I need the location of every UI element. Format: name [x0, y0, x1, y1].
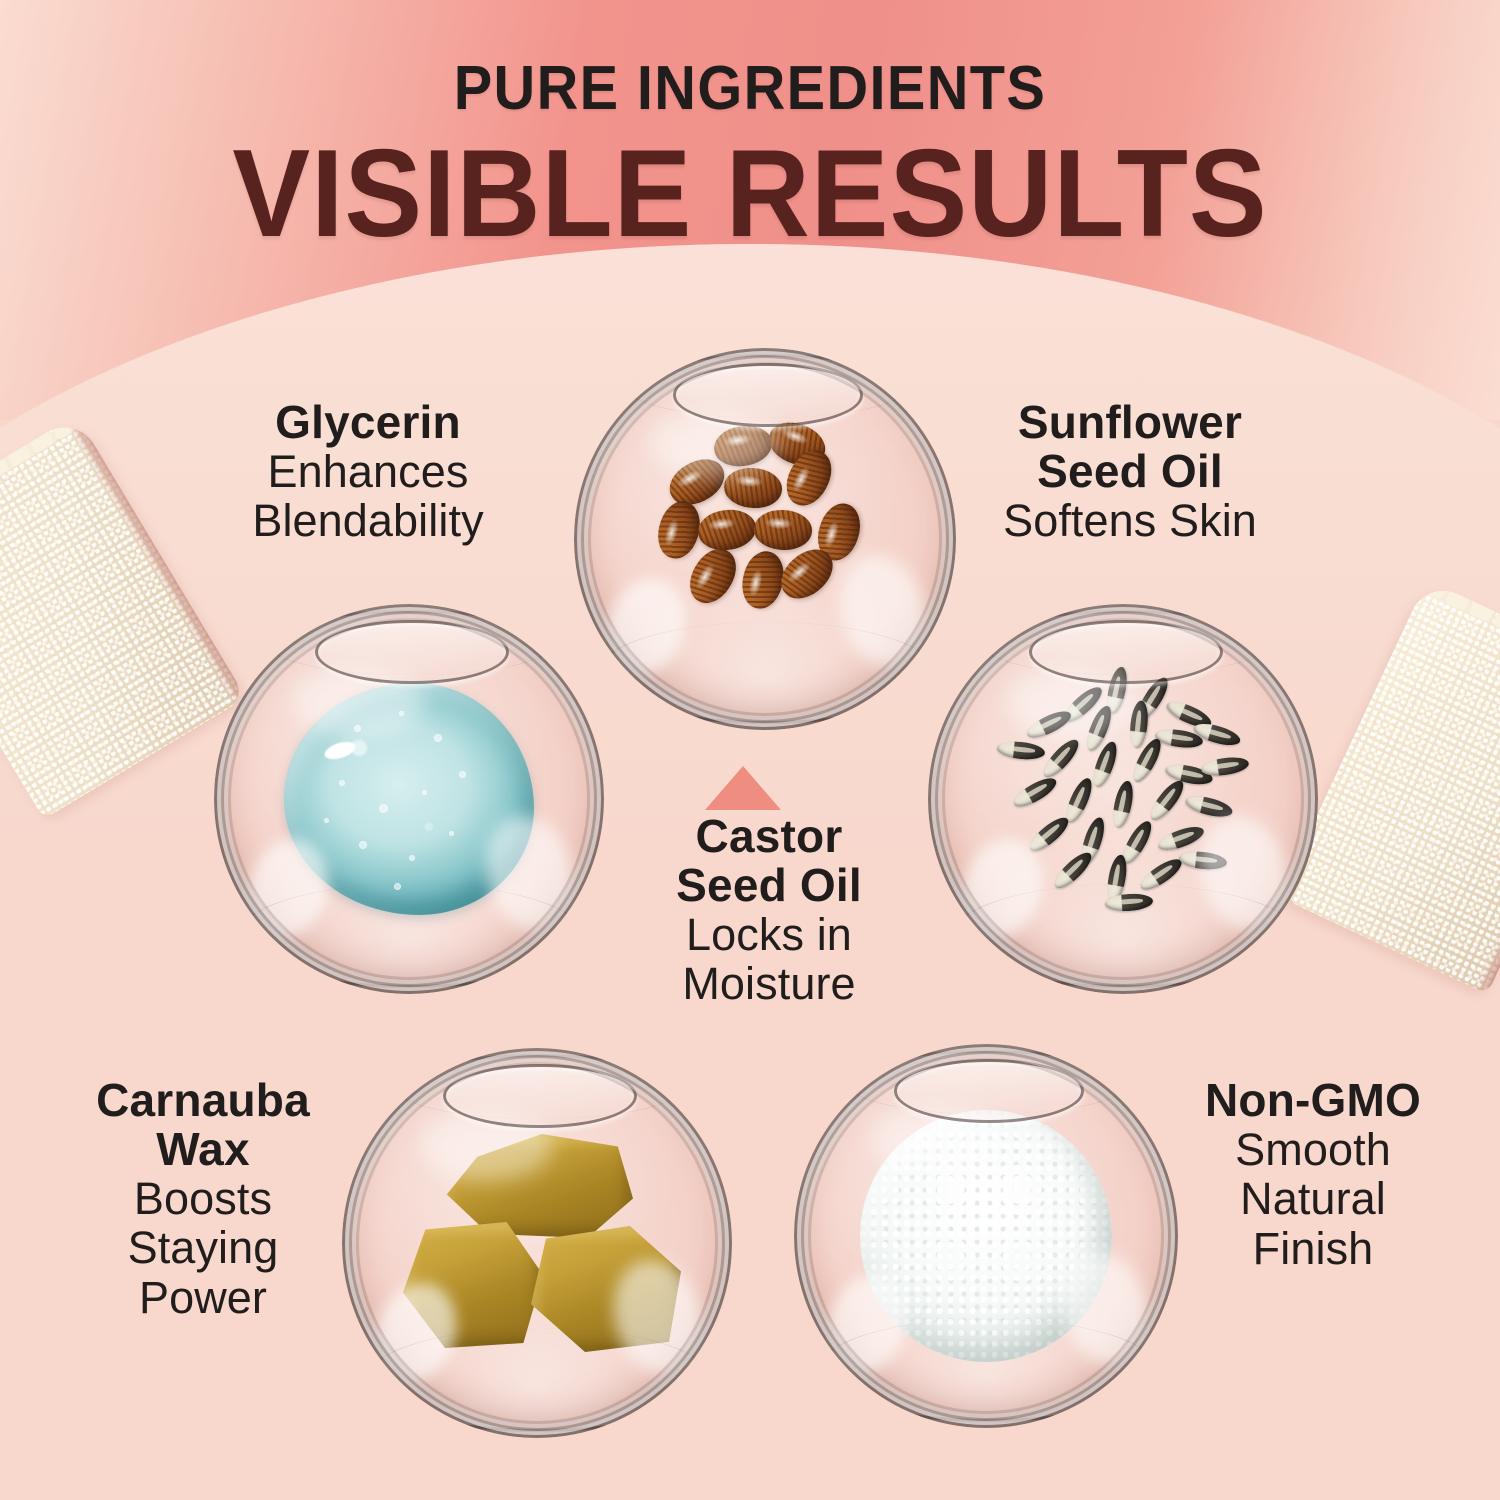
ingredient-benefit-line2: Moisture: [610, 959, 928, 1009]
ingredient-name-line2: Seed Oil: [610, 861, 928, 910]
ingredient-sphere-carnauba: [342, 1048, 732, 1438]
ingredient-label-nongmo: Non-GMO Smooth Natural Finish: [1132, 1076, 1494, 1273]
ingredient-label-castor: Castor Seed Oil Locks in Moisture: [610, 812, 928, 1009]
ingredient-benefit-line2: Blendability: [168, 496, 568, 546]
headline-main: VISIBLE RESULTS: [45, 132, 1455, 256]
ingredient-label-glycerin: Glycerin Enhances Blendability: [168, 398, 568, 546]
ingredient-benefit-line2: Natural: [1132, 1174, 1494, 1224]
glass-rim: [794, 1044, 1178, 1428]
ingredient-label-carnauba: Carnauba Wax Boosts Staying Power: [20, 1076, 386, 1322]
castor-pointer-triangle-icon: [705, 766, 781, 810]
ingredient-benefit-line3: Power: [20, 1273, 386, 1323]
ingredient-benefit-line1: Enhances: [168, 447, 568, 497]
ingredient-name: Glycerin: [168, 398, 568, 447]
ingredient-benefit-line1: Boosts: [20, 1174, 386, 1224]
ingredient-benefit-line3: Finish: [1132, 1224, 1494, 1274]
headline-block: PURE INGREDIENTS VISIBLE RESULTS: [0, 0, 1500, 256]
ingredient-name-line1: Sunflower: [930, 398, 1330, 447]
ingredient-sphere-glycerin: [214, 604, 604, 994]
glass-rim: [342, 1048, 732, 1438]
ingredient-name-line1: Carnauba: [20, 1076, 386, 1125]
glass-rim: [928, 604, 1318, 994]
ingredient-sphere-nongmo: [794, 1044, 1178, 1428]
ingredient-name-line2: Seed Oil: [930, 447, 1330, 496]
ingredient-label-sunflower: Sunflower Seed Oil Softens Skin: [930, 398, 1330, 545]
ingredient-benefit-line1: Smooth: [1132, 1125, 1494, 1175]
ingredient-benefit-line2: Staying: [20, 1223, 386, 1273]
glass-rim: [214, 604, 604, 994]
ingredient-sphere-castor: [574, 348, 956, 730]
ingredient-name-line1: Castor: [610, 812, 928, 861]
ingredient-name-line2: Wax: [20, 1125, 386, 1174]
headline-kicker: PURE INGREDIENTS: [53, 58, 1448, 120]
glass-rim: [574, 348, 956, 730]
ingredient-benefit-line1: Softens Skin: [930, 496, 1330, 546]
ingredient-name-line1: Non-GMO: [1132, 1076, 1494, 1125]
infographic-canvas: PURE INGREDIENTS VISIBLE RESULTS: [0, 0, 1500, 1500]
ingredient-benefit-line1: Locks in: [610, 910, 928, 960]
ingredient-sphere-sunflower: [928, 604, 1318, 994]
